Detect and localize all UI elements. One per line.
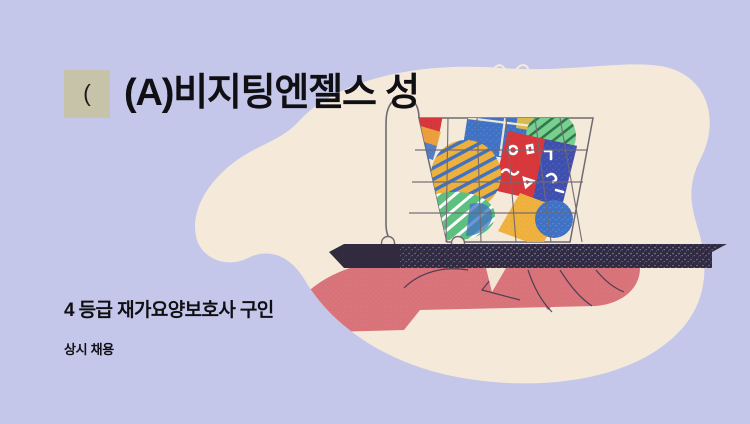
badge-square: (	[64, 70, 110, 118]
poster-canvas: ( (A)비지팅엔젤스 성 4 등급 재가요양보호사 구인 상시 채용	[0, 0, 750, 424]
page-title: (A)비지팅엔젤스 성	[124, 72, 419, 116]
badge-label: (	[83, 82, 91, 105]
hiring-status-text: 상시 채용	[64, 339, 114, 358]
job-title-text: 4 등급 재가요양보호사 구인	[64, 295, 274, 322]
text-layer: ( (A)비지팅엔젤스 성 4 등급 재가요양보호사 구인 상시 채용	[0, 0, 750, 424]
